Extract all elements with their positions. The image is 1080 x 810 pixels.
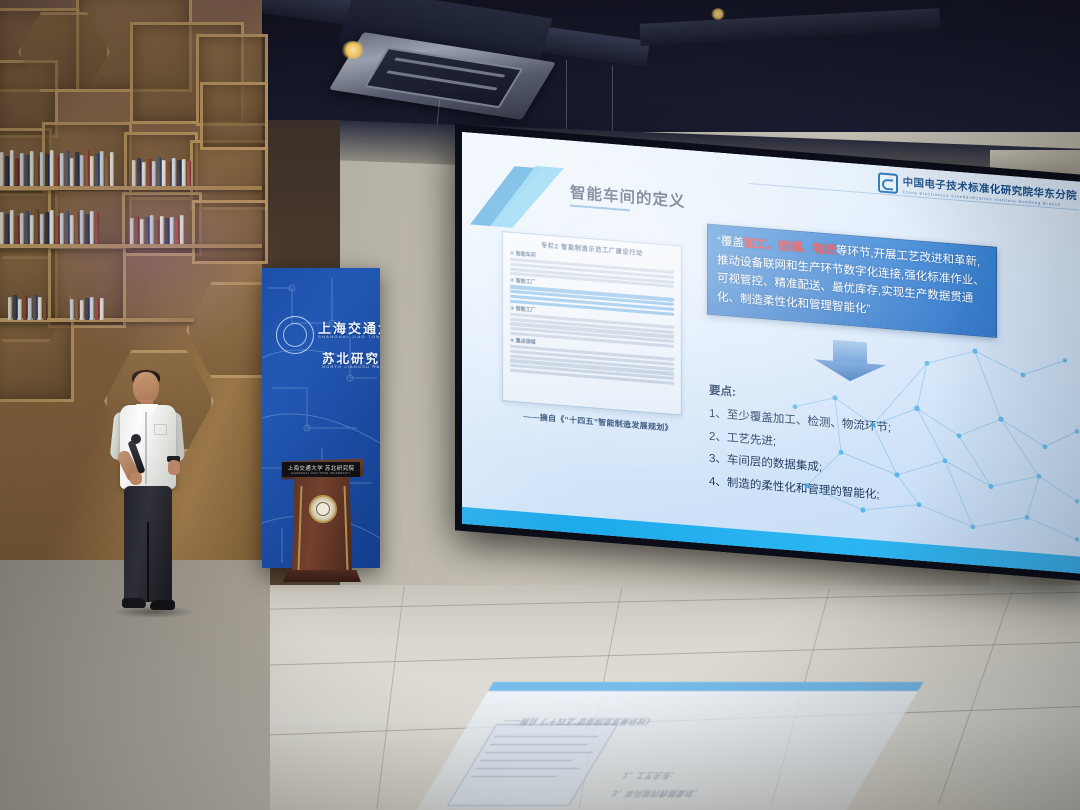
sjtu-emblem-icon xyxy=(309,495,337,523)
speaker-shirt-pocket xyxy=(154,424,167,435)
speaker-shoe xyxy=(122,598,146,608)
quote-seg-highlight: 加工、检测、物流 xyxy=(744,238,836,257)
led-presentation-screen[interactable]: 中国电子技术标准化研究院华东分院 China Electronics Stand… xyxy=(455,124,1080,581)
slide-canvas: 中国电子技术标准化研究院华东分院 China Electronics Stand… xyxy=(462,132,1080,574)
conference-room-photo: ——摘自《“十四五”智能制造发展规划》 2、工艺先进; 3、车间层的数据集成; … xyxy=(0,0,1080,810)
header-logo: 中国电子技术标准化研究院华东分院 China Electronics Stand… xyxy=(878,172,1077,208)
network-dots-graphic xyxy=(777,297,1080,557)
book-row xyxy=(132,156,198,186)
banner-institute-en: NORTH JIANGSU RESEARCH INSTITUTE xyxy=(322,364,380,369)
plaque-text-cn: 上海交通大学 苏北研究院 xyxy=(288,464,355,472)
ces-logo-icon xyxy=(878,172,898,194)
speaker-shirt-placket xyxy=(145,412,147,484)
banner-university-en: SHANGHAI JIAO TONG UNIVERSITY xyxy=(318,334,380,339)
book-row xyxy=(0,208,120,244)
speaker-hand xyxy=(168,460,180,475)
slide-reflection-on-tile: ——摘自《“十四五”智能制造发展规划》 2、工艺先进; 3、车间层的数据集成; xyxy=(417,682,924,810)
plaque-text-en: SHANGHAI JIAO TONG UNIVERSITY xyxy=(292,472,351,475)
ceiling-beam xyxy=(640,8,941,46)
reflection-keypoint: 2、工艺先进; xyxy=(620,770,677,781)
speaker-shoe xyxy=(150,600,175,610)
reflection-accent-bar xyxy=(488,682,923,691)
policy-document-image: 专栏2 智能制造示范工厂建设行动 ① 智能车间 ② 智能工厂 ③ 智能工厂 ④ … xyxy=(502,231,682,415)
lectern-base xyxy=(283,570,361,582)
book-row xyxy=(0,148,128,186)
speaker-leg-split xyxy=(147,522,149,602)
ceiling-spot-light xyxy=(341,41,365,59)
quote-seg-plain: 覆盖 xyxy=(721,236,744,250)
book-row xyxy=(130,214,192,244)
book-row xyxy=(8,294,60,320)
sjtu-seal-icon xyxy=(276,316,314,354)
microphone-head-icon xyxy=(131,434,141,444)
lectern-plaque: 上海交通大学 苏北研究院 SHANGHAI JIAO TONG UNIVERSI… xyxy=(282,462,360,477)
reflection-caption: ——摘自《“十四五”智能制造发展规划》 xyxy=(500,716,657,727)
book-row xyxy=(70,296,120,320)
speaker-hand-holding-mic xyxy=(130,472,142,485)
reflection-keypoint: 3、车间层的数据集成; xyxy=(609,788,700,799)
speaker xyxy=(100,372,200,622)
ceiling-spot-light xyxy=(711,8,725,20)
ac-grille xyxy=(364,47,523,109)
